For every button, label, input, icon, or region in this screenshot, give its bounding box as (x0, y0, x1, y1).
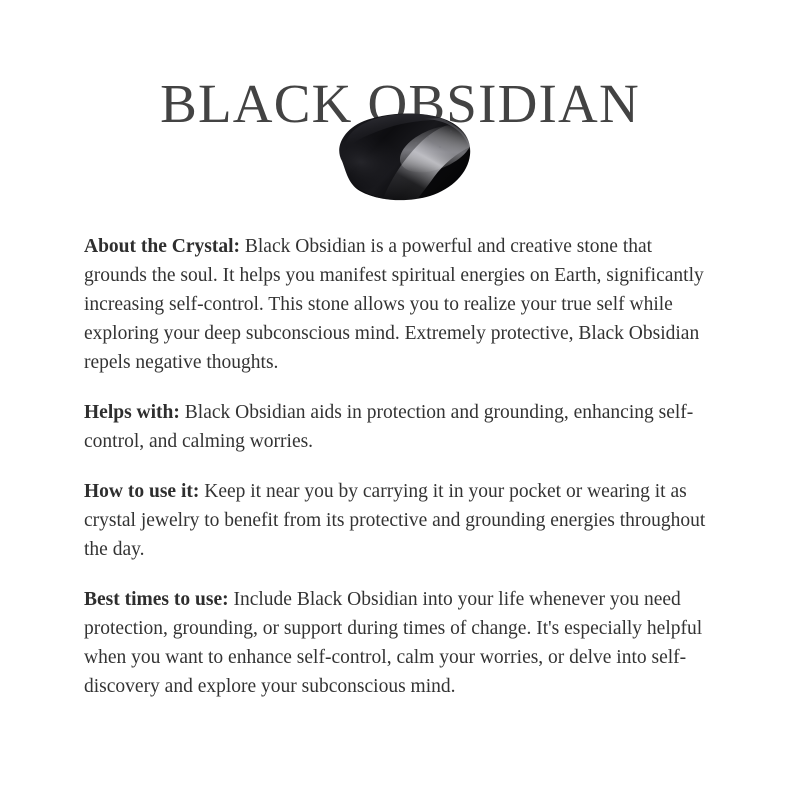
section-lead-label: Best times to use: (84, 589, 229, 610)
section-lead-label: About the Crystal: (84, 236, 240, 257)
section-how-to-use-it: How to use it: Keep it near you by carry… (84, 477, 716, 564)
section-best-times-to-use: Best times to use: Include Black Obsidia… (84, 585, 716, 701)
crystal-info-card: BLACK OBSIDIAN (0, 0, 800, 800)
section-lead-label: How to use it: (84, 481, 199, 502)
stone-speckle (405, 154, 406, 155)
crystal-image (320, 103, 490, 208)
stone-speckle (450, 130, 451, 131)
section-lead-label: Helps with: (84, 402, 180, 423)
section-about-the-crystal: About the Crystal: Black Obsidian is a p… (84, 232, 716, 377)
stone-speckle (439, 146, 441, 148)
crystal-description: About the Crystal: Black Obsidian is a p… (84, 232, 716, 701)
stone-speckle (415, 142, 417, 144)
section-helps-with: Helps with: Black Obsidian aids in prote… (84, 398, 716, 456)
stone-speckle (427, 136, 428, 137)
black-obsidian-stone-icon (320, 103, 490, 208)
